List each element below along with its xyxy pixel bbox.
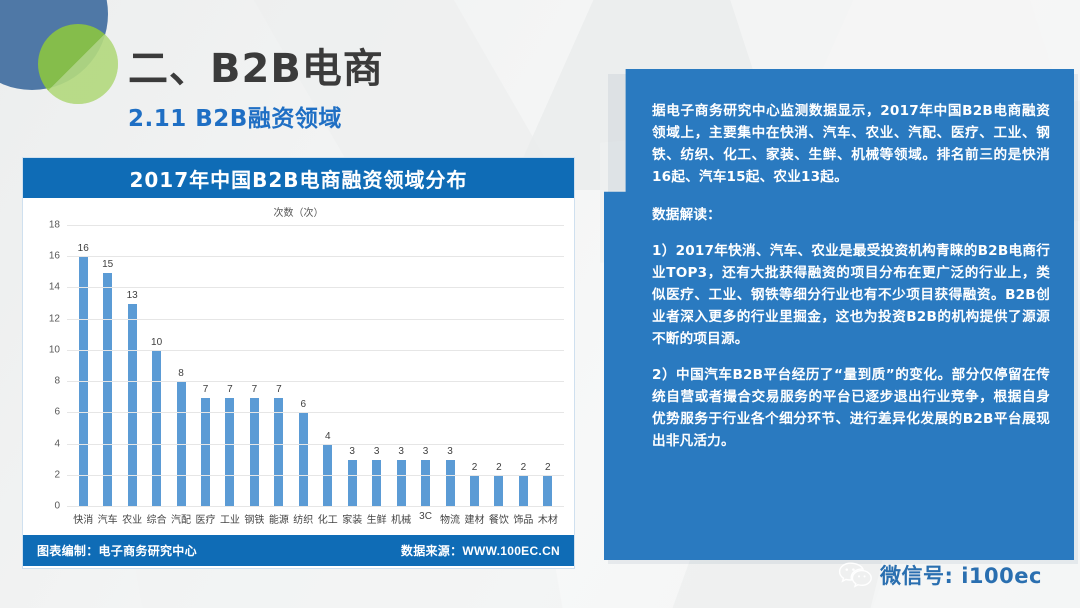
chart-plot-area: 次数（次） 161513108777764333332222 024681012… [23, 198, 574, 535]
bar: 6 [299, 413, 308, 507]
bar-item: 4 [316, 226, 340, 507]
x-axis-tick: 汽车 [95, 511, 119, 531]
decorative-green-circle-highlight [38, 24, 118, 104]
bar: 3 [397, 460, 406, 507]
bar-item: 13 [120, 226, 144, 507]
bar-value-label: 16 [78, 243, 89, 254]
bar-value-label: 4 [325, 431, 331, 442]
wechat-icon [838, 561, 872, 589]
bar: 10 [152, 351, 161, 507]
bar: 4 [323, 445, 332, 507]
bar-item: 2 [536, 226, 560, 507]
bar-item: 3 [364, 226, 388, 507]
y-axis-tick: 12 [49, 313, 60, 324]
page-subtitle: 2.11 B2B融资领域 [128, 99, 342, 133]
grid-line: 6 [67, 412, 564, 413]
bar: 13 [128, 304, 137, 507]
bar-value-label: 15 [102, 259, 113, 270]
bar-item: 2 [462, 226, 486, 507]
x-axis-tick: 钢铁 [242, 511, 266, 531]
bar-item: 8 [169, 226, 193, 507]
x-axis-tick: 综合 [144, 511, 168, 531]
grid-line: 16 [67, 256, 564, 257]
commentary-heading-analysis: 数据解读： [652, 204, 1050, 226]
bar: 7 [250, 398, 259, 507]
grid-line: 4 [67, 444, 564, 445]
x-axis-tick: 家装 [340, 511, 364, 531]
bar-value-label: 7 [252, 384, 258, 395]
y-axis-tick: 6 [54, 407, 60, 418]
x-axis-tick: 餐饮 [487, 511, 511, 531]
y-axis-tick: 2 [54, 469, 60, 480]
bar-value-label: 2 [545, 462, 551, 473]
bar: 2 [494, 476, 503, 507]
bar-value-label: 10 [151, 337, 162, 348]
bar: 3 [446, 460, 455, 507]
commentary-paragraph-1: 1）2017年快消、汽车、农业是最受投资机构青睐的B2B电商行业TOP3，还有大… [652, 240, 1050, 350]
chart-card: 2017年中国B2B电商融资领域分布 次数（次） 161513108777764… [22, 157, 575, 569]
bar-value-label: 3 [398, 446, 404, 457]
grid-line: 0 [67, 506, 564, 507]
bar-item: 3 [389, 226, 413, 507]
bar-value-label: 3 [423, 446, 429, 457]
grid-line: 10 [67, 350, 564, 351]
bar-value-label: 13 [127, 290, 138, 301]
grid-line: 12 [67, 319, 564, 320]
bar: 2 [519, 476, 528, 507]
bar-value-label: 3 [349, 446, 355, 457]
x-axis-labels: 快消汽车农业综合汽配医疗工业钢铁能源纺织化工家装生鲜机械3C物流建材餐饮饰品木材 [67, 511, 564, 531]
bar-value-label: 7 [227, 384, 233, 395]
bar-value-label: 3 [447, 446, 453, 457]
commentary-paragraph-summary: 据电子商务研究中心监测数据显示，2017年中国B2B电商融资领域上，主要集中在快… [652, 100, 1050, 188]
page-title: 二、B2B电商 [128, 36, 384, 94]
x-axis-tick: 物流 [438, 511, 462, 531]
y-axis-tick: 10 [49, 344, 60, 355]
commentary-panel-content: 据电子商务研究中心监测数据显示，2017年中国B2B电商融资领域上，主要集中在快… [604, 69, 1074, 470]
y-axis-tick: 16 [49, 251, 60, 262]
bar-item: 16 [71, 226, 95, 507]
bar-item: 2 [511, 226, 535, 507]
bar: 2 [470, 476, 479, 507]
chart-source-url: 数据来源：WWW.100EC.CN [401, 542, 560, 559]
y-axis-tick: 0 [54, 501, 60, 512]
wechat-badge: 微信号: i100ec [838, 560, 1042, 590]
chart-grid: 161513108777764333332222 024681012141618 [67, 226, 564, 507]
y-axis-tick: 8 [54, 376, 60, 387]
chart-header: 2017年中国B2B电商融资领域分布 [23, 158, 574, 198]
x-axis-tick: 生鲜 [364, 511, 388, 531]
x-axis-tick: 医疗 [193, 511, 217, 531]
x-axis-tick: 纺织 [291, 511, 315, 531]
wechat-label: 微信号: i100ec [880, 560, 1042, 590]
bar: 3 [372, 460, 381, 507]
grid-line: 8 [67, 381, 564, 382]
bar-value-label: 6 [301, 399, 307, 410]
bar-item: 3 [340, 226, 364, 507]
grid-line: 18 [67, 225, 564, 226]
y-axis-tick: 4 [54, 438, 60, 449]
chart-title: 2017年中国B2B电商融资领域分布 [129, 164, 467, 193]
x-axis-tick: 汽配 [169, 511, 193, 531]
y-axis-caption: 次数（次） [23, 204, 574, 219]
x-axis-tick: 农业 [120, 511, 144, 531]
bar: 3 [421, 460, 430, 507]
x-axis-tick: 工业 [218, 511, 242, 531]
x-axis-tick: 饰品 [511, 511, 535, 531]
x-axis-tick: 3C [413, 511, 437, 531]
commentary-paragraph-2: 2）中国汽车B2B平台经历了“量到质”的变化。部分仅停留在传统自营或者撮合交易服… [652, 364, 1050, 452]
grid-line: 14 [67, 287, 564, 288]
x-axis-tick: 化工 [316, 511, 340, 531]
bar-value-label: 2 [496, 462, 502, 473]
commentary-panel: 据电子商务研究中心监测数据显示，2017年中国B2B电商融资领域上，主要集中在快… [604, 69, 1074, 560]
bar-value-label: 2 [472, 462, 478, 473]
x-axis-tick: 木材 [536, 511, 560, 531]
bar: 8 [177, 382, 186, 507]
bar-item: 15 [95, 226, 119, 507]
bar: 7 [225, 398, 234, 507]
chart-source-compiler: 图表编制：电子商务研究中心 [37, 542, 197, 559]
bar: 7 [201, 398, 210, 507]
bar-value-label: 7 [203, 384, 209, 395]
bar-value-label: 2 [521, 462, 527, 473]
chart-footer: 图表编制：电子商务研究中心 数据来源：WWW.100EC.CN [23, 535, 574, 566]
bar-item: 3 [413, 226, 437, 507]
bar-value-label: 8 [178, 368, 184, 379]
x-axis-tick: 建材 [462, 511, 486, 531]
bar: 7 [274, 398, 283, 507]
bar: 3 [348, 460, 357, 507]
bar-item: 10 [144, 226, 168, 507]
y-axis-tick: 14 [49, 282, 60, 293]
y-axis-tick: 18 [49, 220, 60, 231]
bar-item: 6 [291, 226, 315, 507]
bar: 15 [103, 273, 112, 507]
x-axis-tick: 快消 [71, 511, 95, 531]
bar-item: 7 [267, 226, 291, 507]
bar-value-label: 7 [276, 384, 282, 395]
bar-item: 7 [242, 226, 266, 507]
bar-item: 3 [438, 226, 462, 507]
x-axis-tick: 能源 [267, 511, 291, 531]
grid-line: 2 [67, 475, 564, 476]
bar-item: 7 [218, 226, 242, 507]
x-axis-tick: 机械 [389, 511, 413, 531]
bar: 2 [543, 476, 552, 507]
bar-item: 2 [487, 226, 511, 507]
bar-value-label: 3 [374, 446, 380, 457]
chart-bars: 161513108777764333332222 [67, 226, 564, 507]
bar-item: 7 [193, 226, 217, 507]
